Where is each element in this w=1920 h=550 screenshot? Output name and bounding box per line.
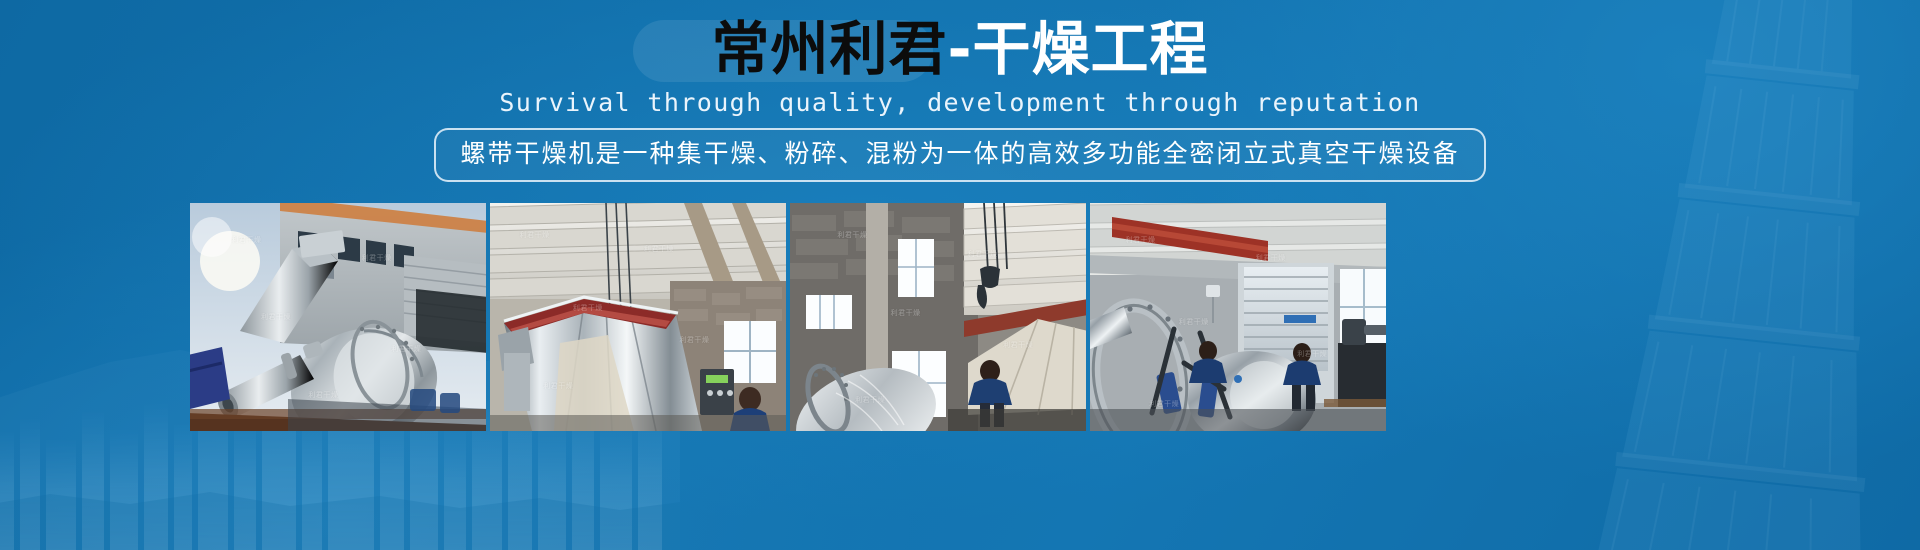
gallery-photo-1[interactable]: 利君干燥 利君干燥 利君干燥 利君干燥 利君干燥 bbox=[190, 203, 486, 431]
gallery-photo-3[interactable]: 利君干燥 利君干燥 利君干燥 利君干燥 利君干燥 bbox=[790, 203, 1086, 431]
product-description: 螺带干燥机是一种集干燥、粉碎、混粉为一体的高效多功能全密闭立式真空干燥设备 bbox=[434, 128, 1485, 182]
headline-company-name: 常州利君 bbox=[711, 15, 947, 83]
gallery-photo-4[interactable]: 利君干燥 利君干燥 利君干燥 利君干燥 利君干燥 bbox=[1090, 203, 1386, 431]
headline-business-name: -干燥工程 bbox=[947, 15, 1208, 83]
gallery-photo-2[interactable]: 利君干燥 利君干燥 利君干燥 利君干燥 利君干燥 bbox=[490, 203, 786, 431]
english-slogan: Survival through quality, development th… bbox=[0, 88, 1920, 117]
page-title: 常州利君-干燥工程 bbox=[711, 14, 1208, 84]
description-container: 螺带干燥机是一种集干燥、粉碎、混粉为一体的高效多功能全密闭立式真空干燥设备 bbox=[0, 128, 1920, 182]
product-banner: 常州利君-干燥工程 Survival through quality, deve… bbox=[0, 0, 1920, 550]
photo-gallery-strip: 利君干燥 利君干燥 利君干燥 利君干燥 利君干燥 bbox=[190, 203, 1386, 431]
headline-container: 常州利君-干燥工程 bbox=[0, 14, 1920, 84]
